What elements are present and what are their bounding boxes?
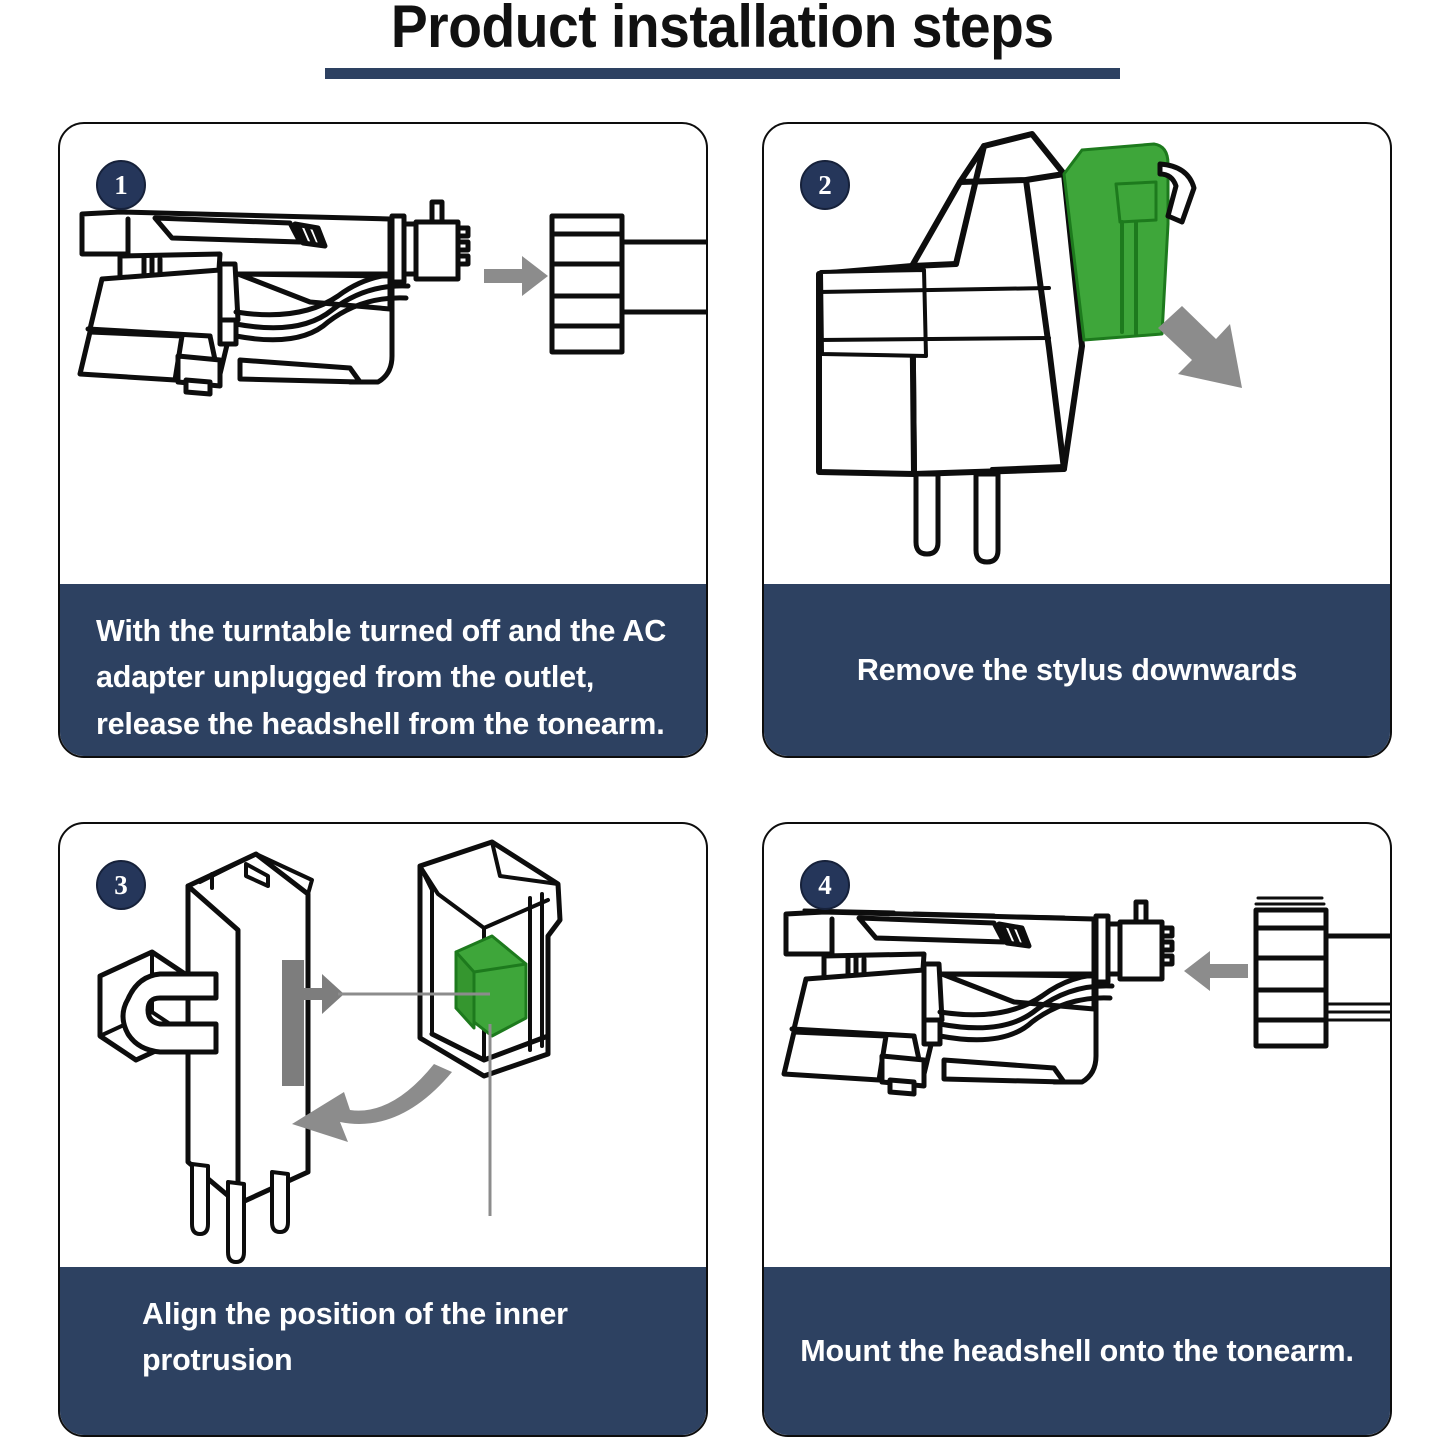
step-card-1: 1	[58, 122, 708, 758]
step-3-illustration	[60, 824, 708, 1271]
step-card-3: 3	[58, 822, 708, 1437]
step-number-badge-2: 2	[800, 160, 850, 210]
page-header: Product installation steps	[0, 0, 1445, 95]
protrusion-marker-icon	[282, 960, 344, 1086]
page-title: Product installation steps	[391, 0, 1054, 57]
arrow-left-icon	[1184, 951, 1248, 991]
step-caption-1: With the turntable turned off and the AC…	[60, 584, 706, 756]
step-number-badge-4: 4	[800, 860, 850, 910]
arrow-curved-left-icon	[292, 1064, 452, 1142]
step-caption-2: Remove the stylus downwards	[764, 584, 1390, 756]
step-caption-4: Mount the headshell onto the tonearm.	[764, 1267, 1390, 1435]
step-number-badge-3: 3	[96, 860, 146, 910]
step-4-illustration	[764, 824, 1392, 1271]
title-underline-rule	[325, 68, 1120, 79]
step-card-4: 4	[762, 822, 1392, 1437]
arrow-down-right-icon	[1158, 306, 1242, 388]
steps-grid: 1	[58, 122, 1392, 1437]
step-2-illustration	[764, 124, 1392, 588]
step-card-2: 2	[762, 122, 1392, 758]
arrow-right-icon	[484, 256, 548, 296]
step-number-badge-1: 1	[96, 160, 146, 210]
step-1-illustration	[60, 124, 708, 588]
step-caption-3: Align the position of the inner protrusi…	[60, 1267, 706, 1435]
